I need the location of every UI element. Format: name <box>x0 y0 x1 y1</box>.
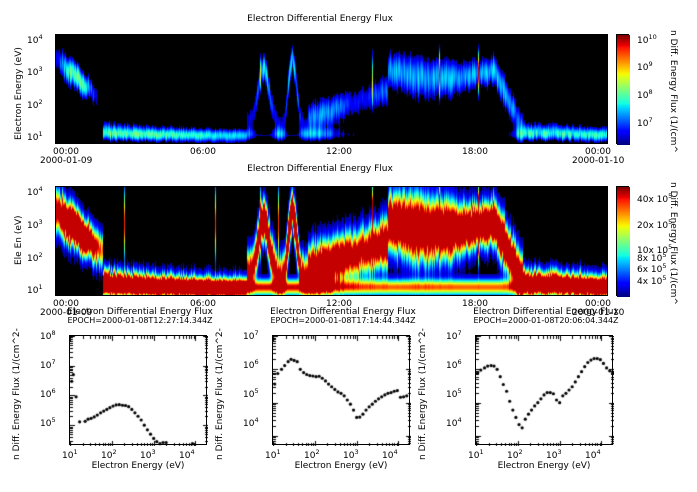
bottom-plot-1[interactable] <box>69 335 207 445</box>
bottom-plot-3[interactable] <box>475 335 613 445</box>
bp1-ytick-2: 106 <box>40 387 56 400</box>
bp2-xtick-2: 103 <box>343 448 359 461</box>
panel1-ylabel: Electron Energy (eV) <box>14 47 24 140</box>
panel1-colorbar[interactable] <box>616 34 629 144</box>
panel2-title: Electron Differential Energy Flux <box>120 164 520 174</box>
panel2-colorbar-label: n Diff. Energy Flux (1/(cm^ <box>668 182 678 305</box>
bottom-panel-3-epoch: EPOCH=2000-01-08T20:06:04.344Z <box>441 316 651 325</box>
panel1-cbtick-1: 109 <box>637 60 653 73</box>
panel1-xtick-3: 18:00 <box>462 147 488 157</box>
panel1-ytick-1: 103 <box>27 65 43 78</box>
panel1-xtick-1: 06:00 <box>190 147 216 157</box>
bp1-ytick-3: 105 <box>40 416 56 429</box>
bp1-xtick-1: 102 <box>101 448 117 461</box>
panel2-cblabel-wrap: n Diff. Energy Flux (1/(cm^ <box>678 182 697 192</box>
panel1-xdate-4: 2000-01-10 <box>572 156 624 166</box>
bp3-xtick-2: 103 <box>546 448 562 461</box>
bp2-xtick-3: 104 <box>382 448 398 461</box>
bp3-xtick-3: 104 <box>585 448 601 461</box>
panel1-ytick-3: 101 <box>27 130 43 143</box>
bottom-panel-1-xlabel: Electron Energy (eV) <box>69 461 207 471</box>
bp3-ytick-0: 107 <box>446 329 462 342</box>
panel1-cbtick-3: 107 <box>637 116 653 129</box>
bp1-xtick-0: 101 <box>62 448 78 461</box>
panel1-colorbar-label: n Diff. Energy Flux (1/(cm^ <box>668 30 678 153</box>
bp1-ytick-0: 108 <box>40 329 56 342</box>
bp3-ytick-3: 104 <box>446 416 462 429</box>
bp1-xtick-3: 104 <box>179 448 195 461</box>
spectrogram-middle[interactable] <box>55 186 608 296</box>
bp2-ytick-3: 104 <box>243 416 259 429</box>
bp3-ytick-1: 106 <box>446 358 462 371</box>
panel2-ytick-1: 103 <box>27 218 43 231</box>
panel2-ytick-2: 102 <box>27 251 43 264</box>
panel1-ytick-2: 102 <box>27 98 43 111</box>
panel2-cbtick-5: 4x 105 <box>637 274 667 287</box>
panel2-ylabel: Ele En (eV) <box>14 215 24 265</box>
bottom-plot-2[interactable] <box>272 335 410 445</box>
panel1-xdate-0: 2000-01-09 <box>40 156 92 166</box>
panel1-cblabel-wrap: n Diff. Energy Flux (1/(cm^ <box>678 30 697 40</box>
bp3-xtick-0: 101 <box>468 448 484 461</box>
panel2-cbtick-0: 40x 105 <box>637 192 672 205</box>
bottom-panel-1-ylabel: n Diff. Energy Flux (1/(cm^2- <box>12 328 22 460</box>
panel2-cbtick-1: 20x 105 <box>637 218 672 231</box>
bottom-panel-2-xlabel: Electron Energy (eV) <box>272 461 410 471</box>
panel2-ytick-0: 104 <box>27 185 43 198</box>
bottom-panel-1-epoch: EPOCH=2000-01-08T12:27:14.344Z <box>35 316 245 325</box>
bp3-ytick-2: 105 <box>446 387 462 400</box>
panel2-ytick-3: 101 <box>27 283 43 296</box>
bp2-xtick-0: 101 <box>265 448 281 461</box>
bp1-ytick-1: 107 <box>40 358 56 371</box>
bottom-panel-2-epoch: EPOCH=2000-01-08T17:14:44.344Z <box>238 316 448 325</box>
bp2-ytick-2: 105 <box>243 387 259 400</box>
panel2-colorbar[interactable] <box>616 186 629 296</box>
bottom-panel-2-ylabel: n Diff. Energy Flux (1/(cm^2- <box>215 328 225 460</box>
bottom-panel-3-xlabel: Electron Energy (eV) <box>475 461 613 471</box>
bottom-panel-3-ylabel: n Diff. Energy Flux (1/(cm^2- <box>418 328 428 460</box>
panel1-xtick-2: 12:00 <box>326 147 352 157</box>
spectrogram-top[interactable] <box>55 34 608 144</box>
panel1-title: Electron Differential Energy Flux <box>120 14 520 24</box>
panel1-cbtick-0: 1010 <box>637 33 657 46</box>
panel1-cbtick-2: 108 <box>637 88 653 101</box>
panel1-ytick-0: 104 <box>27 33 43 46</box>
bp1-xtick-2: 103 <box>140 448 156 461</box>
bp2-xtick-1: 102 <box>304 448 320 461</box>
bp2-ytick-1: 106 <box>243 358 259 371</box>
bp3-xtick-1: 102 <box>507 448 523 461</box>
bp2-ytick-0: 107 <box>243 329 259 342</box>
